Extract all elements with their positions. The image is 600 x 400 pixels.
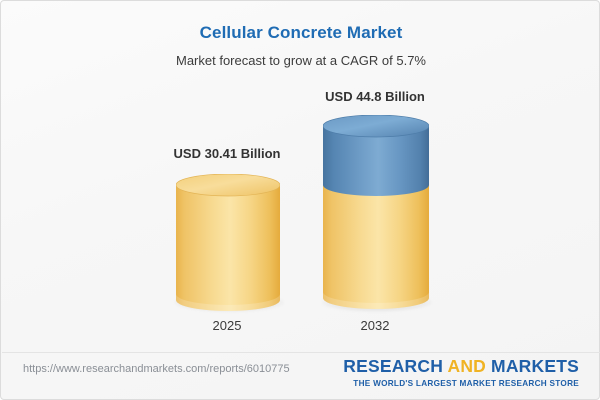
cylinder-2025[interactable] bbox=[176, 174, 280, 311]
research-and-markets-logo[interactable]: RESEARCH AND MARKETS THE WORLD'S LARGEST… bbox=[343, 358, 579, 388]
bar-value-label-2032: USD 44.8 Billion bbox=[314, 89, 436, 104]
logo-wordmark: RESEARCH AND MARKETS bbox=[343, 358, 579, 376]
logo-tagline: THE WORLD'S LARGEST MARKET RESEARCH STOR… bbox=[343, 380, 579, 388]
report-url-link[interactable]: https://www.researchandmarkets.com/repor… bbox=[23, 363, 290, 375]
logo-markets-text: MARKETS bbox=[486, 356, 579, 376]
bar-category-label-2032: 2032 bbox=[314, 318, 436, 333]
cylinder-2032[interactable] bbox=[323, 115, 429, 309]
logo-and-text: AND bbox=[447, 356, 486, 376]
footer-divider bbox=[2, 352, 600, 353]
chart-card: Cellular Concrete Market Market forecast… bbox=[0, 0, 600, 400]
bar-category-label-2025: 2025 bbox=[166, 318, 288, 333]
logo-research-text: RESEARCH bbox=[343, 356, 447, 376]
chart-plot-area: USD 30.41 Billion bbox=[1, 1, 600, 349]
bar-value-label-2025: USD 30.41 Billion bbox=[166, 146, 288, 161]
